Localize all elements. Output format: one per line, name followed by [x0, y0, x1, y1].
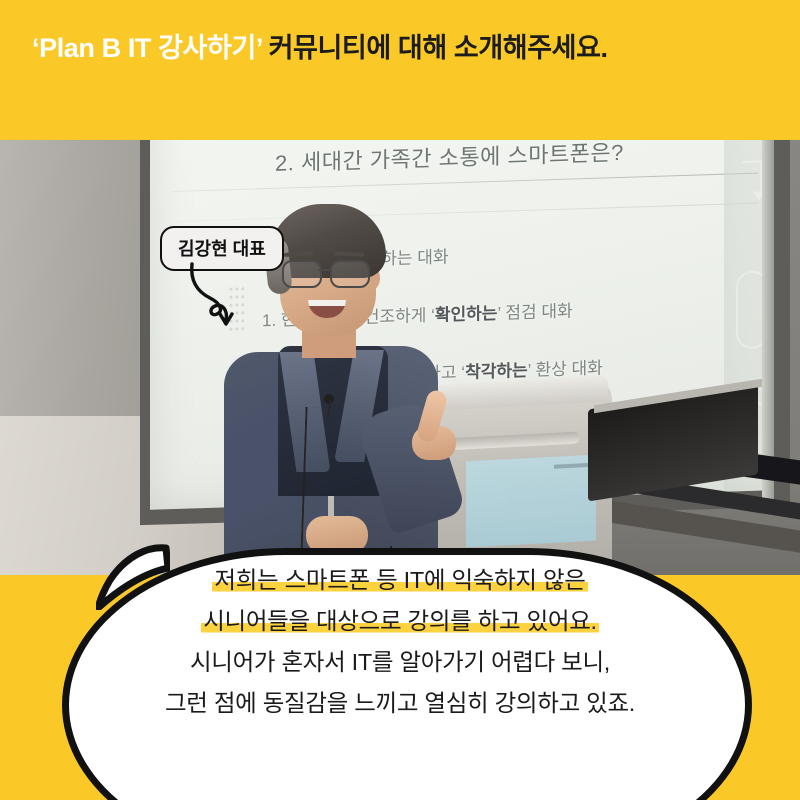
glasses-lens-left — [282, 260, 322, 288]
speech-line-2-text: 시니어가 혼자서 IT를 알아가기 어렵다 보니, — [190, 649, 610, 675]
speech-line-0-text: 저희는 스마트폰 등 IT에 익숙하지 않은 — [212, 567, 587, 593]
glasses-icon — [280, 260, 376, 286]
speaker-name-callout: 김강현 대표 — [160, 226, 284, 271]
screen-down-arrow-icon — [742, 161, 762, 194]
speech-line-1: 시니어들을 대상으로 강의를 하고 있어요. — [62, 601, 738, 642]
page-title-rest: 커뮤니티에 대해 소개해주세요. — [262, 33, 607, 63]
glasses-lens-right — [330, 260, 370, 288]
card-root: 2. 세대간 가족간 소통에 스마트폰은? 족 간의 대화를 단절하는 대화 1… — [0, 0, 800, 800]
podium-panel — [466, 455, 596, 548]
glasses-bridge — [318, 269, 330, 271]
header-banner: ‘Plan B IT 강사하기’ 커뮤니티에 대해 소개해주세요. — [0, 0, 800, 140]
speech-line-0: 저희는 스마트폰 등 IT에 익숙하지 않은 — [62, 560, 738, 601]
speech-line-3-text: 그런 점에 동질감을 느끼고 열심히 강의하고 있죠. — [165, 690, 635, 716]
slide-bullet-1-after: ’ 점검 대화 — [497, 301, 572, 322]
slide-bullet-2-bold: 착각하는 — [465, 361, 528, 382]
curly-down-arrow-icon — [184, 262, 244, 328]
speech-line-2: 시니어가 혼자서 IT를 알아가기 어렵다 보니, — [62, 642, 738, 683]
speech-line-3: 그런 점에 동질감을 느끼고 열심히 강의하고 있죠. — [62, 683, 738, 724]
slide-divider-top — [172, 173, 758, 192]
slide-title: 2. 세대간 가족간 소통에 스마트폰은? — [275, 135, 624, 178]
page-title: ‘Plan B IT 강사하기’ 커뮤니티에 대해 소개해주세요. — [32, 26, 772, 65]
speech-bubble-text: 저희는 스마트폰 등 IT에 익숙하지 않은 시니어들을 대상으로 강의를 하고… — [62, 560, 738, 724]
speech-line-1-text: 시니어들을 대상으로 강의를 하고 있어요. — [201, 608, 599, 634]
page-title-quoted: ‘Plan B IT 강사하기’ — [32, 33, 262, 63]
projector-screen-edge — [762, 86, 774, 500]
photo-region: 2. 세대간 가족간 소통에 스마트폰은? 족 간의 대화를 단절하는 대화 1… — [0, 86, 800, 596]
pointing-hand — [408, 390, 460, 452]
